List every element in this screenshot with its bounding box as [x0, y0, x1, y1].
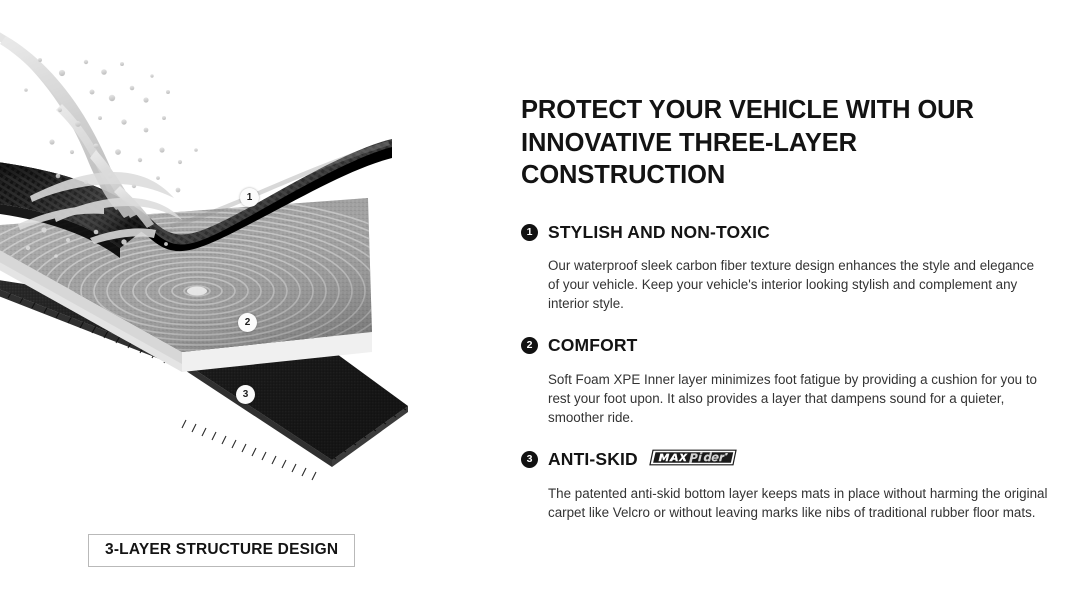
feature-title-1: STYLISH AND NON-TOXIC [548, 222, 770, 243]
product-feature-panel: 1 2 3 3-LAYER STRUCTURE DESIGN PROTECT Y… [0, 0, 1080, 605]
feature-number-badge-1: 1 [521, 224, 538, 241]
structure-design-caption: 3-LAYER STRUCTURE DESIGN [88, 534, 355, 567]
feature-header: 2 COMFORT [521, 335, 1049, 356]
illustration-layer-badge-1: 1 [240, 188, 259, 207]
illustration-layer-badge-2: 2 [238, 313, 257, 332]
feature-number-badge-3: 3 [521, 451, 538, 468]
feature-description-1: Our waterproof sleek carbon fiber textur… [548, 256, 1048, 313]
feature-description-3: The patented anti-skid bottom layer keep… [548, 484, 1048, 522]
three-layer-mat-illustration: 1 2 3 [0, 0, 500, 605]
illustration-layer-badge-3: 3 [236, 385, 255, 404]
maxpider-brand-logo [649, 449, 737, 471]
feature-item-anti-skid: 3 ANTI-SKID [521, 449, 1049, 522]
feature-item-stylish-and-non-toxic: 1 STYLISH AND NON-TOXIC Our waterproof s… [521, 222, 1049, 313]
feature-description-2: Soft Foam XPE Inner layer minimizes foot… [548, 370, 1048, 427]
feature-title-2: COMFORT [548, 335, 638, 356]
feature-header: 1 STYLISH AND NON-TOXIC [521, 222, 1049, 243]
headline-line-1: PROTECT YOUR VEHICLE WITH OUR [521, 94, 1049, 127]
feature-header: 3 ANTI-SKID [521, 449, 1049, 471]
headline-line-2: INNOVATIVE THREE-LAYER CONSTRUCTION [521, 127, 1049, 192]
feature-title-3: ANTI-SKID [548, 449, 638, 470]
page-title: PROTECT YOUR VEHICLE WITH OUR INNOVATIVE… [521, 94, 1049, 192]
feature-item-comfort: 2 COMFORT Soft Foam XPE Inner layer mini… [521, 335, 1049, 426]
feature-content: PROTECT YOUR VEHICLE WITH OUR INNOVATIVE… [521, 94, 1049, 536]
feature-number-badge-2: 2 [521, 337, 538, 354]
